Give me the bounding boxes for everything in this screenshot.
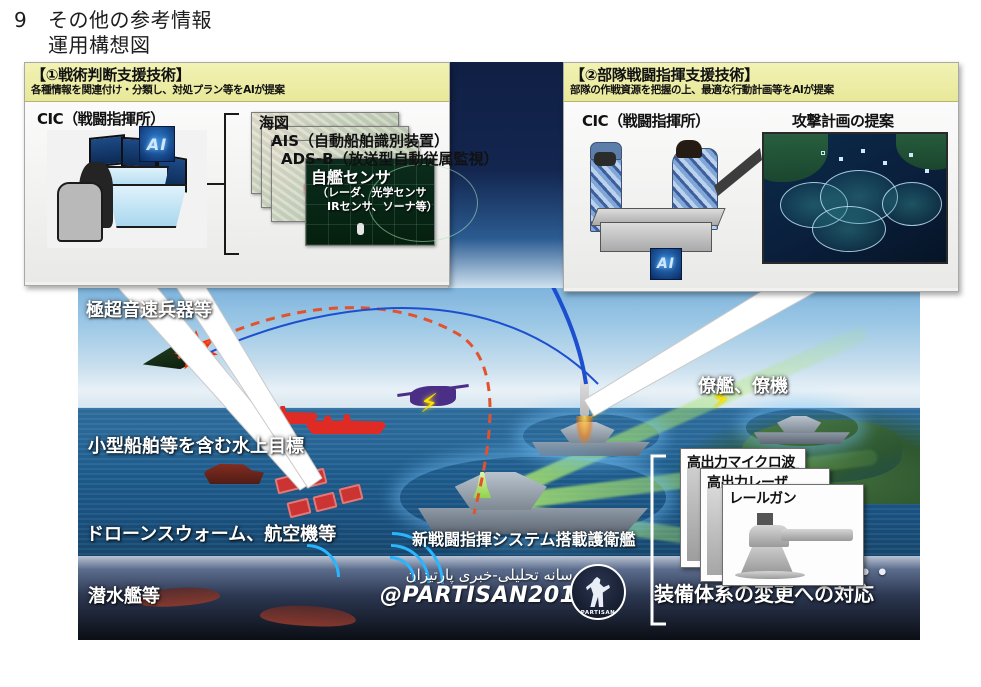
soldier-left-head <box>594 152 616 166</box>
cic-illustration: AI <box>47 130 207 248</box>
label-hypersonic: 極超音速兵器等 <box>86 296 212 322</box>
label-main-ship: 新戦闘指揮システム搭載護衛艦 <box>412 526 636 550</box>
map-landmass-left <box>762 132 828 182</box>
panel1-body: CIC（戦闘指揮所） AI <box>25 102 449 282</box>
weapon-card-railgun[interactable]: レールガン <box>722 484 864 586</box>
panel2-subtitle: 部隊の作戦資源を把握の上、最適な行動計画等をAIが提案 <box>570 84 952 97</box>
map-ring-4 <box>882 182 942 226</box>
label-submarine: 潜水艦等 <box>88 582 160 608</box>
weapon-card-railgun-label: レールガン <box>729 488 796 508</box>
map-ring-3 <box>812 206 886 252</box>
railgun-barrel <box>781 529 853 541</box>
railgun-turntable <box>735 571 805 579</box>
watermark-logo: PARTISAN <box>570 564 626 620</box>
watermark-logo-figure <box>586 577 610 607</box>
map-unit-markers <box>822 152 824 154</box>
page-title-line1: その他の参考情報 <box>48 8 212 32</box>
page-title-line2: 運用構想図 <box>48 33 212 58</box>
label-surface-targets: 小型船舶等を含む水上目標 <box>88 432 304 458</box>
panel1-header: 【①戦術判断支援技術】 各種情報を関連付け・分類し、対処プラン等をAIが提案 <box>25 63 449 102</box>
panel2-cic-caption: CIC（戦闘指揮所） <box>582 110 710 131</box>
panel-tactical-decision-support: 【①戦術判断支援技術】 各種情報を関連付け・分類し、対処プラン等をAIが提案 C… <box>24 62 450 286</box>
panel2-map-caption: 攻撃計画の提案 <box>792 110 894 131</box>
panel1-subtitle: 各種情報を関連付け・分類し、対処プラン等をAIが提案 <box>31 84 443 97</box>
backdrop-navy-band <box>448 62 563 288</box>
panel2-body: CIC（戦闘指揮所） 攻撃計画の提案 AI <box>564 102 958 288</box>
slide-canvas: 9その他の参考情報 運用構想図 ⚡ ⚡ ⚡ <box>0 0 981 687</box>
panel-force-command-support: 【②部隊戦闘指揮支援技術】 部隊の作戦資源を把握の上、最適な行動計画等をAIが提… <box>563 62 959 292</box>
panel1-bracket <box>225 114 239 254</box>
watermark-farsi: رسانه تحلیلی-خبری پارتیزان <box>380 566 580 584</box>
page-title: 9その他の参考情報 運用構想図 <box>14 8 212 58</box>
main-destroyer <box>418 472 648 534</box>
ai-badge-panel2: AI <box>650 248 682 280</box>
watermark-logo-text: PARTISAN <box>572 610 624 616</box>
cic-desk <box>107 184 187 228</box>
panel2-title: 【②部隊戦闘指揮支援技術】 <box>570 66 952 84</box>
label-consort: 僚艦、僚機 <box>698 372 788 398</box>
panel2-header: 【②部隊戦闘指揮支援技術】 部隊の作戦資源を把握の上、最適な行動計画等をAIが提… <box>564 63 958 102</box>
launched-missile <box>580 372 589 416</box>
watermark: رسانه تحلیلی-خبری پارتیزان @PARTISAN2015 <box>380 566 580 608</box>
ship-hull <box>754 432 850 444</box>
watermark-handle: @PARTISAN2015 <box>380 584 580 608</box>
cic-chair <box>57 182 103 242</box>
attack-plan-map[interactable] <box>762 132 948 264</box>
railgun-sight <box>757 513 773 525</box>
soldier-right-head <box>676 140 702 158</box>
card-label-own-sensor-line2: IRセンサ、ソーナ等） <box>327 198 438 214</box>
panel2-connector <box>714 148 762 196</box>
radar-own-marker <box>357 223 364 235</box>
label-drone-swarm: ドローンスウォーム、航空機等 <box>86 520 336 546</box>
consort-ship-right <box>754 416 850 444</box>
ai-badge-panel1: AI <box>139 126 175 162</box>
page-title-number: 9 <box>14 8 48 33</box>
panel1-title: 【①戦術判断支援技術】 <box>31 66 443 84</box>
map-landmass-right <box>896 132 948 170</box>
